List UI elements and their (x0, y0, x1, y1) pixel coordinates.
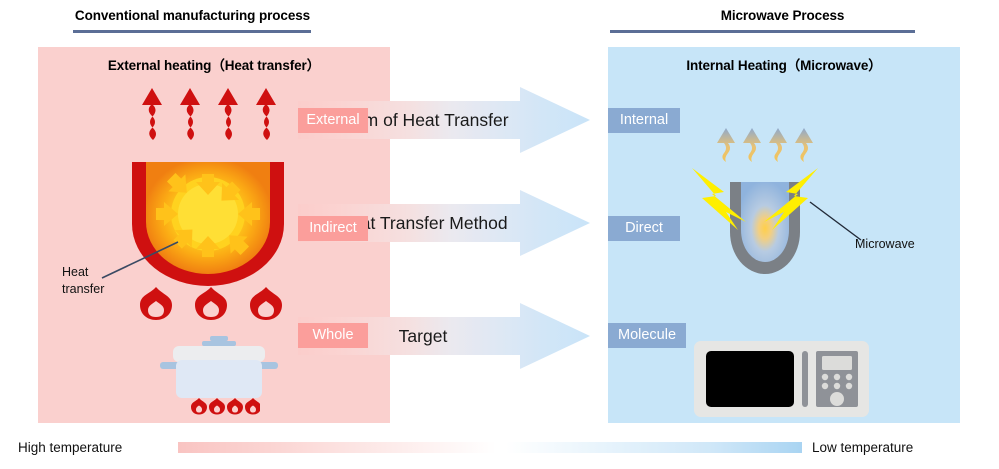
right-title-rule (610, 30, 915, 33)
wavy-up-arrow-icon (135, 86, 285, 140)
heat-transfer-annotation-line1: Heat (62, 264, 132, 281)
legend-low-temperature-label: Low temperature (812, 440, 913, 455)
heat-transfer-annotation: Heat transfer (62, 264, 132, 297)
microwave-annotation: Microwave (855, 236, 915, 253)
badge-left: Whole (298, 323, 368, 348)
left-column-title: Conventional manufacturing process (45, 8, 340, 23)
microwave-oven-icon (694, 341, 869, 417)
right-panel-heading: Internal Heating（Microwave） (608, 54, 960, 74)
badge-left: Indirect (298, 216, 368, 241)
left-panel-heading: External heating（Heat transfer） (38, 54, 390, 74)
cooking-pot-icon (160, 336, 278, 398)
badge-right: Molecule (608, 323, 686, 348)
legend-gradient-hot (178, 442, 496, 453)
gradient-up-arrow-icon (714, 126, 818, 162)
infographic-root: Conventional manufacturing process Micro… (0, 0, 999, 469)
legend-gradient-cold (506, 442, 802, 453)
flame-icon (190, 398, 260, 416)
legend-high-temperature-label: High temperature (18, 440, 122, 455)
badge-left: External (298, 108, 368, 133)
badge-right: Direct (608, 216, 680, 241)
right-column-title: Microwave Process (640, 8, 925, 23)
heat-transfer-annotation-line2: transfer (62, 281, 132, 298)
flame-icon (138, 287, 283, 321)
left-title-rule (73, 30, 311, 33)
badge-right: Internal (608, 108, 680, 133)
